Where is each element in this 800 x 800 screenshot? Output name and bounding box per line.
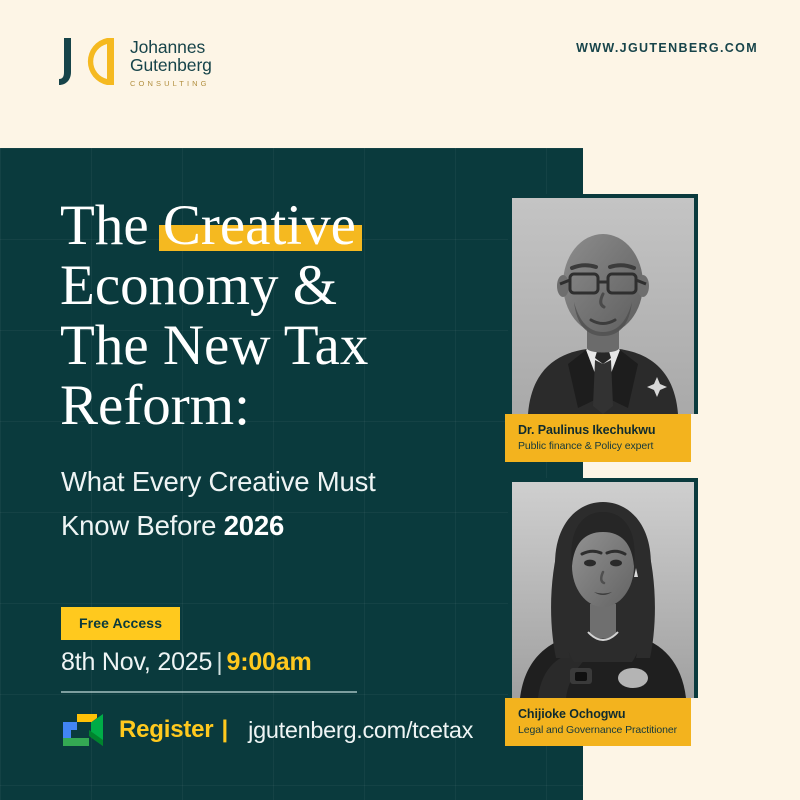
speaker-photo-frame xyxy=(508,194,698,414)
speaker-portrait-illustration xyxy=(512,482,694,698)
section-divider xyxy=(61,691,357,693)
brand-name-line2: Gutenberg xyxy=(130,57,212,75)
headline-line-4: Reform: xyxy=(60,376,490,436)
register-url[interactable]: jgutenberg.com/tcetax xyxy=(248,717,473,744)
subtitle-line-2-prefix: Know Before xyxy=(61,510,224,541)
headline-line-1-prefix: The xyxy=(60,194,163,257)
speaker-name: Dr. Paulinus Ikechukwu xyxy=(518,423,691,438)
headline-line-3: The New Tax xyxy=(60,316,490,376)
header: Johannes Gutenberg CONSULTING WWW.JGUTEN… xyxy=(0,0,800,148)
headline-highlight-word: Creative xyxy=(163,196,356,256)
speaker-name: Chijioke Ochogwu xyxy=(518,707,691,722)
register-label: Register xyxy=(119,716,213,744)
speaker-nameplate: Chijioke Ochogwu Legal and Governance Pr… xyxy=(505,698,691,746)
speaker-card: Dr. Paulinus Ikechukwu Public finance & … xyxy=(508,194,698,462)
datetime-separator: | xyxy=(216,648,222,676)
headline-line-2: Economy & xyxy=(60,256,490,316)
speaker-photo-frame xyxy=(508,478,698,698)
speaker-role: Legal and Governance Practitioner xyxy=(518,723,691,737)
speaker-photo-male xyxy=(512,198,694,414)
event-date: 8th Nov, 2025 xyxy=(61,648,212,676)
brand-tagline: CONSULTING xyxy=(130,80,212,88)
brand-name-line1: Johannes xyxy=(130,39,212,57)
brand-logo[interactable]: Johannes Gutenberg CONSULTING xyxy=(55,34,212,92)
speaker-role: Public finance & Policy expert xyxy=(518,439,691,453)
speaker-photo-female xyxy=(512,482,694,698)
free-access-badge: Free Access xyxy=(61,607,180,640)
jg-monogram-icon xyxy=(55,34,117,92)
event-time: 9:00am xyxy=(227,648,312,676)
event-flyer: Johannes Gutenberg CONSULTING WWW.JGUTEN… xyxy=(0,0,800,800)
subtitle: What Every Creative Must Know Before 202… xyxy=(61,460,491,548)
speaker-portrait-illustration xyxy=(512,198,694,414)
speaker-card: Chijioke Ochogwu Legal and Governance Pr… xyxy=(508,478,698,746)
website-url[interactable]: WWW.JGUTENBERG.COM xyxy=(576,41,758,55)
subtitle-line-2: Know Before 2026 xyxy=(61,504,491,548)
brand-wordmark: Johannes Gutenberg CONSULTING xyxy=(130,39,212,88)
google-meet-icon xyxy=(61,712,105,748)
register-row[interactable]: Register | jgutenberg.com/tcetax xyxy=(61,712,473,748)
event-datetime: 8th Nov, 2025|9:00am xyxy=(61,648,312,677)
subtitle-line-1: What Every Creative Must xyxy=(61,460,491,504)
speaker-nameplate: Dr. Paulinus Ikechukwu Public finance & … xyxy=(505,414,691,462)
subtitle-year: 2026 xyxy=(224,510,284,541)
headline-line-1: The Creative xyxy=(60,196,490,256)
headline: The Creative Economy & The New Tax Refor… xyxy=(60,196,490,436)
register-separator: | xyxy=(221,716,228,744)
